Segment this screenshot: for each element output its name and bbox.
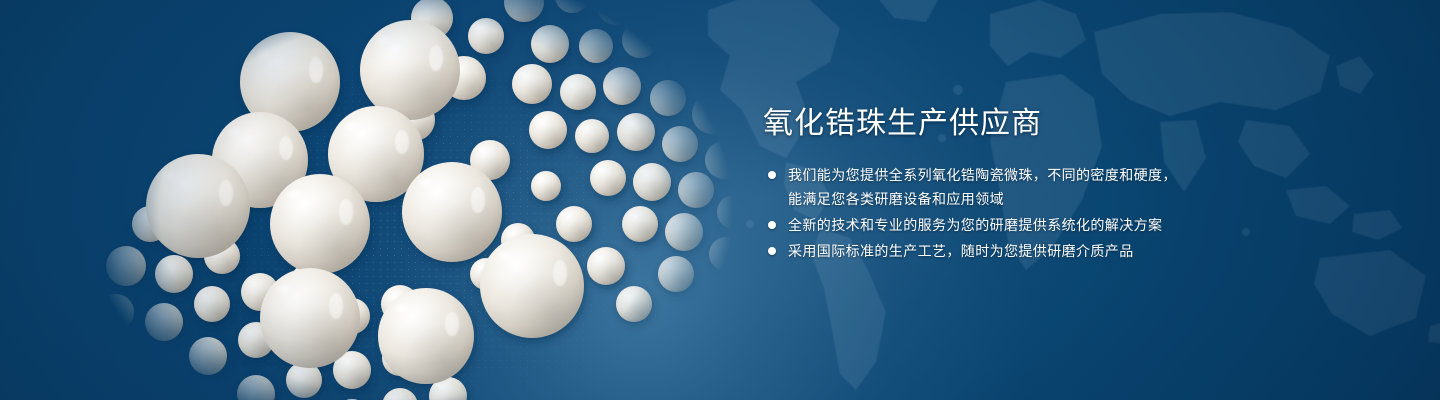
bullet-line: 能满足您各类研磨设备和应用领域 — [788, 187, 1283, 211]
hero-banner: 氧化锆珠生产供应商 我们能为您提供全系列氧化锆陶瓷微珠，不同的密度和硬度， 能满… — [0, 0, 1440, 400]
bullet-dot-icon — [768, 171, 776, 179]
page-title: 氧化锆珠生产供应商 — [763, 104, 1283, 144]
banner-content: 氧化锆珠生产供应商 我们能为您提供全系列氧化锆陶瓷微珠，不同的密度和硬度， 能满… — [763, 104, 1283, 265]
bullet-line: 采用国际标准的生产工艺，随时为您提供研磨介质产品 — [788, 239, 1283, 263]
feature-bullet-list: 我们能为您提供全系列氧化锆陶瓷微珠，不同的密度和硬度， 能满足您各类研磨设备和应… — [763, 163, 1283, 263]
list-item: 采用国际标准的生产工艺，随时为您提供研磨介质产品 — [763, 239, 1283, 263]
bullet-line: 我们能为您提供全系列氧化锆陶瓷微珠，不同的密度和硬度， — [788, 163, 1283, 187]
bullet-dot-icon — [768, 247, 776, 255]
bullet-dot-icon — [768, 221, 776, 229]
bullet-line: 全新的技术和专业的服务为您的研磨提供系统化的解决方案 — [788, 213, 1283, 237]
list-item: 全新的技术和专业的服务为您的研磨提供系统化的解决方案 — [763, 213, 1283, 237]
list-item: 我们能为您提供全系列氧化锆陶瓷微珠，不同的密度和硬度， 能满足您各类研磨设备和应… — [763, 163, 1283, 211]
